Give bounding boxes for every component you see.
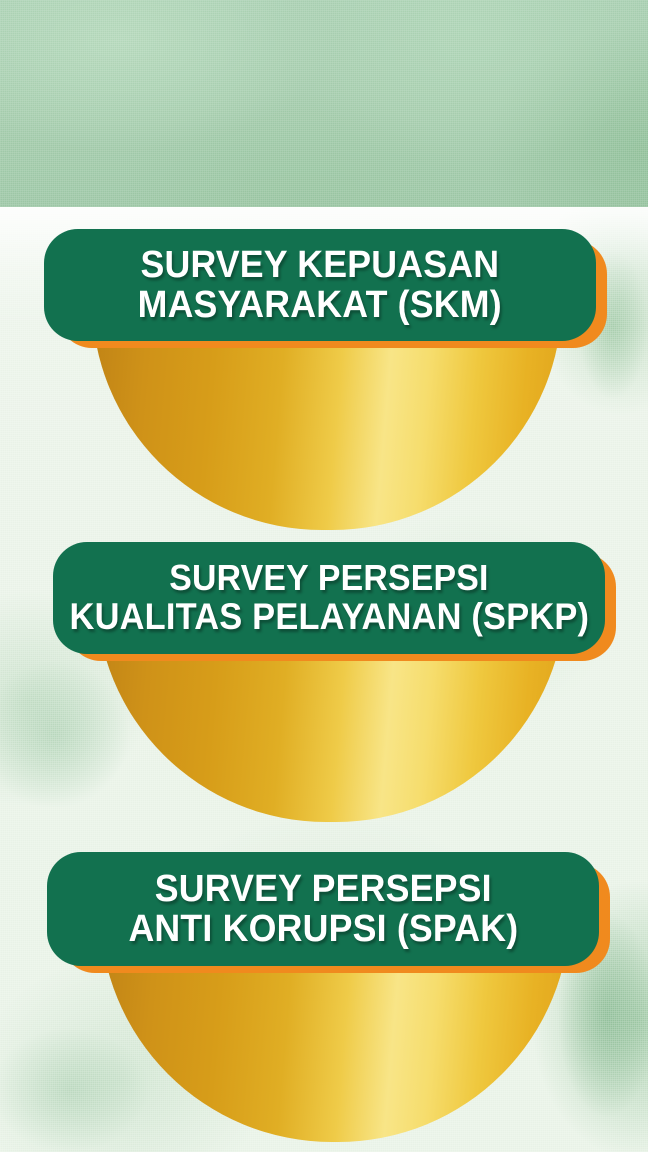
poster-canvas: SURVEY KEPUASAN MASYARAKAT (SKM) SURVEY … bbox=[0, 0, 648, 1152]
survey-card-spak-line1: SURVEY PERSEPSI bbox=[154, 869, 491, 909]
survey-card-skm-line1: SURVEY KEPUASAN bbox=[141, 245, 500, 285]
survey-card-spkp-line1: SURVEY PERSEPSI bbox=[169, 559, 488, 597]
survey-card-skm-line2: MASYARAKAT (SKM) bbox=[138, 285, 502, 325]
survey-card-spkp[interactable]: SURVEY PERSEPSI KUALITAS PELAYANAN (SPKP… bbox=[53, 542, 605, 654]
header-band-texture bbox=[0, 0, 648, 207]
survey-card-spak-line2: ANTI KORUPSI (SPAK) bbox=[128, 909, 518, 949]
survey-card-spak[interactable]: SURVEY PERSEPSI ANTI KORUPSI (SPAK) bbox=[47, 852, 599, 966]
survey-card-spkp-line2: KUALITAS PELAYANAN (SPKP) bbox=[69, 597, 589, 636]
survey-card-skm[interactable]: SURVEY KEPUASAN MASYARAKAT (SKM) bbox=[44, 229, 596, 341]
